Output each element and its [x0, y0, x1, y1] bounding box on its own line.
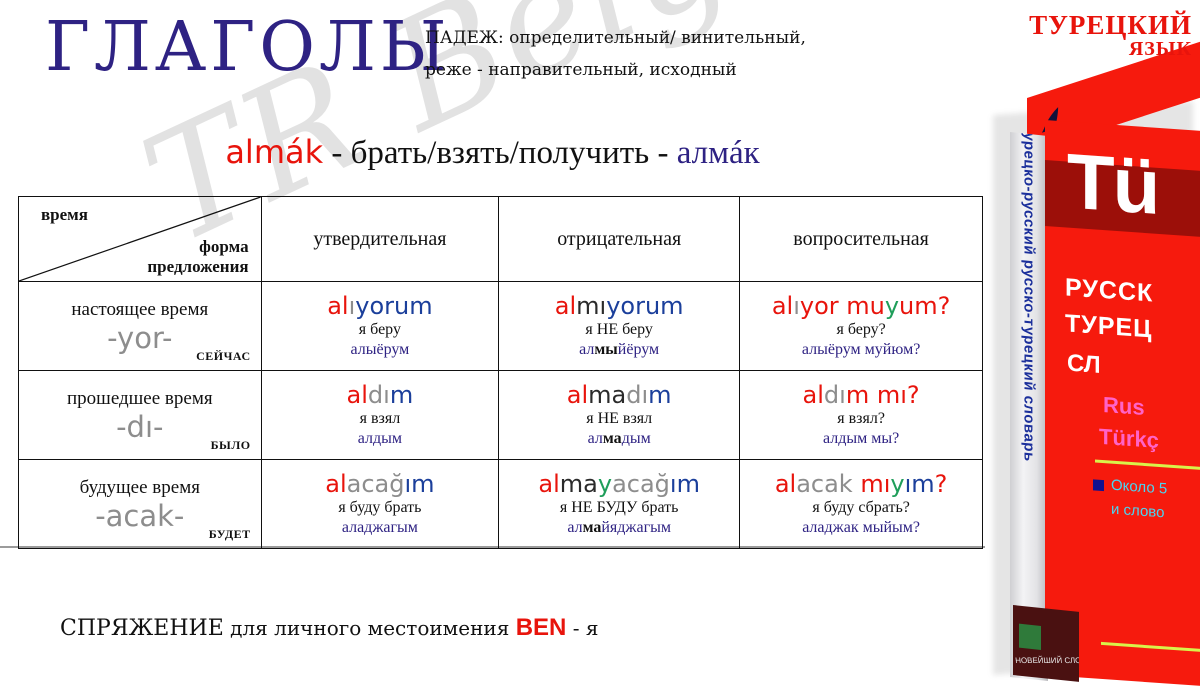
dictionary-book-image: Турецко-русский русско-турецкий словарь … — [985, 60, 1200, 675]
verb-meaning: брать/взять/получить — [351, 135, 650, 171]
tense-hint: БЫЛО — [211, 438, 251, 453]
turkish-segment: mu — [846, 292, 885, 320]
russian-transcription: алмайяджагым — [503, 518, 735, 538]
russian-transcription: аладжак мыйым? — [744, 518, 978, 538]
turkish-segment: al — [347, 381, 368, 409]
turkish-form: aldım mı? — [744, 381, 978, 409]
turkish-segment: al — [538, 470, 559, 498]
russian-meaning: я беру? — [744, 320, 978, 340]
footer-note: СПРЯЖЕНИЕ для личного местоимения BEN - … — [60, 614, 598, 642]
book-bullet-icon — [1093, 479, 1104, 491]
transcription-segment: йяджагым — [601, 519, 671, 536]
russian-transcription: алмыйёрум — [503, 340, 735, 360]
turkish-segment: y — [890, 470, 904, 498]
turkish-segment: m — [846, 381, 877, 409]
book-bullet-text-2: и слово — [1111, 501, 1164, 522]
russian-transcription: алдым мы? — [744, 429, 978, 449]
footer-part-3: - я — [566, 616, 598, 640]
turkish-segment: al — [327, 292, 348, 320]
transcription-segment: дым — [622, 430, 651, 447]
case-note-line-2: реже - направительный, исходный — [425, 54, 855, 86]
form-cell-negative: almayacağımя НЕ БУДУ братьалмайяджагым — [499, 460, 740, 549]
tense-hint: СЕЙЧАС — [196, 349, 251, 364]
transcription-segment: аладжагым — [342, 519, 418, 536]
table-body: время форма предложения утвердительная о… — [19, 197, 983, 549]
turkish-segment: acağ — [347, 470, 405, 498]
transcription-segment: алдым — [358, 430, 402, 447]
transcription-segment: йёрум — [618, 341, 659, 358]
turkish-segment: ma — [588, 381, 626, 409]
book-spine-text: Турецко-русский русско-турецкий словарь — [1021, 132, 1038, 463]
book-title-large: Tü — [1067, 142, 1158, 226]
transcription-segment: ал — [588, 430, 603, 447]
russian-transcription: алыёрум — [266, 340, 495, 360]
transcription-segment: ма — [603, 430, 622, 447]
tense-name: настоящее время — [25, 298, 255, 322]
corner-header-cell: время форма предложения — [19, 197, 262, 282]
turkish-segment: ım — [905, 470, 935, 498]
form-cell-interrogative: aldım mı?я взял?алдым мы? — [740, 371, 983, 460]
turkish-segment: um? — [899, 292, 950, 320]
turkish-form: aldım — [266, 381, 495, 409]
corner-top-label: время — [41, 205, 88, 225]
turkish-segment: ım — [404, 470, 434, 498]
turkish-segment: yorum — [606, 292, 683, 320]
verb-sep-2: - — [649, 135, 677, 171]
turkish-form: almayacağım — [503, 470, 735, 498]
verb-headline: almák - брать/взять/получить - алмáк — [0, 133, 985, 172]
transcription-segment: алыёрум муйюм? — [802, 341, 920, 358]
turkish-segment: ım — [670, 470, 700, 498]
turkish-segment: mı — [576, 292, 606, 320]
transcription-segment: алдым мы? — [823, 430, 899, 447]
transcription-segment: аладжак мыйым? — [802, 519, 920, 536]
russian-meaning: я взял — [266, 409, 495, 429]
russian-meaning: я взял? — [744, 409, 978, 429]
book-cover-line-1: РУССК — [1065, 273, 1153, 308]
turkish-segment: al — [555, 292, 576, 320]
verb-turkish: almák — [225, 133, 323, 171]
turkish-form: alıyorum — [266, 292, 495, 320]
turkish-segment: yor — [800, 292, 846, 320]
turkish-form: almıyorum — [503, 292, 735, 320]
brand-badge: ТУРЕЦКИЙ ЯЗЫК — [1029, 12, 1192, 60]
brand-line-2: ЯЗЫК — [1029, 38, 1192, 60]
book-spine: Турецко-русский русско-турецкий словарь — [1010, 132, 1048, 681]
form-cell-affirmative: alıyorumя беруалыёрум — [261, 282, 499, 371]
turkish-segment: al — [325, 470, 346, 498]
turkish-segment: y — [598, 470, 612, 498]
form-cell-negative: almadımя НЕ взялалмадым — [499, 371, 740, 460]
form-cell-interrogative: alıyor muyum?я беру?алыёрум муйюм? — [740, 282, 983, 371]
footer-pronoun: BEN — [516, 614, 567, 641]
turkish-form: alıyor muyum? — [744, 292, 978, 320]
turkish-form: alacağım — [266, 470, 495, 498]
turkish-segment: dı — [368, 381, 390, 409]
verb-sep-1: - — [323, 135, 351, 171]
russian-meaning: я НЕ беру — [503, 320, 735, 340]
form-cell-negative: almıyorumя НЕ беруалмыйёрум — [499, 282, 740, 371]
corner-bottom-line-2: предложения — [147, 257, 248, 277]
turkish-segment: m — [390, 381, 413, 409]
russian-transcription: алмадым — [503, 429, 735, 449]
turkish-segment: ma — [560, 470, 598, 498]
corner-bottom-label: форма предложения — [147, 237, 248, 277]
book-bottom-chip — [1019, 624, 1041, 650]
book-front-cover: Tü РУССК ТУРЕЦ СЛ Rus Türkç Около 5 и сл… — [1045, 120, 1200, 687]
turkish-form: almadım — [503, 381, 735, 409]
turkish-segment: ı — [793, 292, 800, 320]
form-cell-affirmative: aldımя взялалдым — [261, 371, 499, 460]
turkish-segment: al — [567, 381, 588, 409]
turkish-segment: m — [648, 381, 671, 409]
column-header-interrogative: вопросительная — [740, 197, 983, 282]
book-cover-line-2: ТУРЕЦ — [1065, 309, 1152, 344]
page-title: ГЛАГОЛЫ — [45, 8, 451, 87]
tense-name: прошедшее время — [25, 387, 255, 411]
turkish-segment: yorum — [355, 292, 432, 320]
russian-meaning: я буду брать — [266, 498, 495, 518]
russian-transcription: алыёрум муйюм? — [744, 340, 978, 360]
turkish-segment: acak — [796, 470, 860, 498]
footer-part-1: СПРЯЖЕНИЕ — [60, 616, 224, 641]
turkish-segment: al — [775, 470, 796, 498]
book-bottom-label: НОВЕЙШИЙ СЛОВАРЬ — [1015, 656, 1079, 665]
turkish-segment: dı — [626, 381, 648, 409]
table-header-row: время форма предложения утвердительная о… — [19, 197, 983, 282]
book-cover-line-3: СЛ — [1067, 350, 1101, 380]
form-cell-affirmative: alacağımя буду братьаладжагым — [261, 460, 499, 549]
form-cell-interrogative: alacak mıyım?я буду сбрать?аладжак мыйым… — [740, 460, 983, 549]
russian-meaning: я НЕ БУДУ брать — [503, 498, 735, 518]
turkish-segment: al — [772, 292, 793, 320]
tense-cell-2: прошедшее время-dı-БЫЛО — [19, 371, 262, 460]
turkish-segment: al — [803, 381, 824, 409]
brand-line-1: ТУРЕЦКИЙ — [1029, 12, 1192, 38]
transcription-segment: алыёрум — [350, 341, 409, 358]
book-cover-rule-bottom — [1101, 642, 1200, 655]
russian-transcription: аладжагым — [266, 518, 495, 538]
transcription-segment: ал — [579, 341, 594, 358]
book-cover-line-4: Rus — [1103, 392, 1145, 421]
column-header-affirmative: утвердительная — [261, 197, 499, 282]
book-bottom-edge: НОВЕЙШИЙ СЛОВАРЬ — [1013, 605, 1079, 682]
column-header-negative: отрицательная — [499, 197, 740, 282]
book-cover-rule-top — [1095, 459, 1200, 472]
transcription-segment: мы — [594, 341, 617, 358]
russian-transcription: алдым — [266, 429, 495, 449]
footer-part-2: для личного местоимения — [224, 616, 516, 640]
tense-cell-1: настоящее время-yor-СЕЙЧАС — [19, 282, 262, 371]
turkish-form: alacak mıyım? — [744, 470, 978, 498]
book-cover-line-5: Türkç — [1099, 424, 1159, 454]
case-note: ПАДЕЖ: определительный/ винительный, реж… — [425, 22, 855, 86]
table-row: будущее время-acak-БУДЕТalacağımя буду б… — [19, 460, 983, 549]
table-row: прошедшее время-dı-БЫЛОaldımя взялалдымa… — [19, 371, 983, 460]
slide-root: TR Belgin Comert ГЛАГОЛЫ ПАДЕЖ: определи… — [0, 0, 1200, 675]
turkish-segment: mı? — [877, 381, 920, 409]
russian-meaning: я НЕ взял — [503, 409, 735, 429]
transcription-segment: ал — [567, 519, 582, 536]
conjugation-table: время форма предложения утвердительная о… — [18, 196, 983, 549]
russian-meaning: я беру — [266, 320, 495, 340]
turkish-segment: ? — [935, 470, 948, 498]
tense-name: будущее время — [25, 476, 255, 500]
turkish-segment: dı — [824, 381, 846, 409]
turkish-segment: mı — [860, 470, 890, 498]
russian-meaning: я буду сбрать? — [744, 498, 978, 518]
turkish-segment: acağ — [612, 470, 670, 498]
verb-transcription: алмáк — [677, 135, 760, 171]
book-bullet-text-1: Около 5 — [1111, 477, 1167, 498]
transcription-segment: ма — [583, 519, 602, 536]
case-note-line-1: ПАДЕЖ: определительный/ винительный, — [425, 22, 855, 54]
tense-cell-3: будущее время-acak-БУДЕТ — [19, 460, 262, 549]
table-row: настоящее время-yor-СЕЙЧАСalıyorumя беру… — [19, 282, 983, 371]
corner-bottom-line-1: форма — [147, 237, 248, 257]
tense-hint: БУДЕТ — [209, 527, 251, 542]
turkish-segment: y — [885, 292, 899, 320]
